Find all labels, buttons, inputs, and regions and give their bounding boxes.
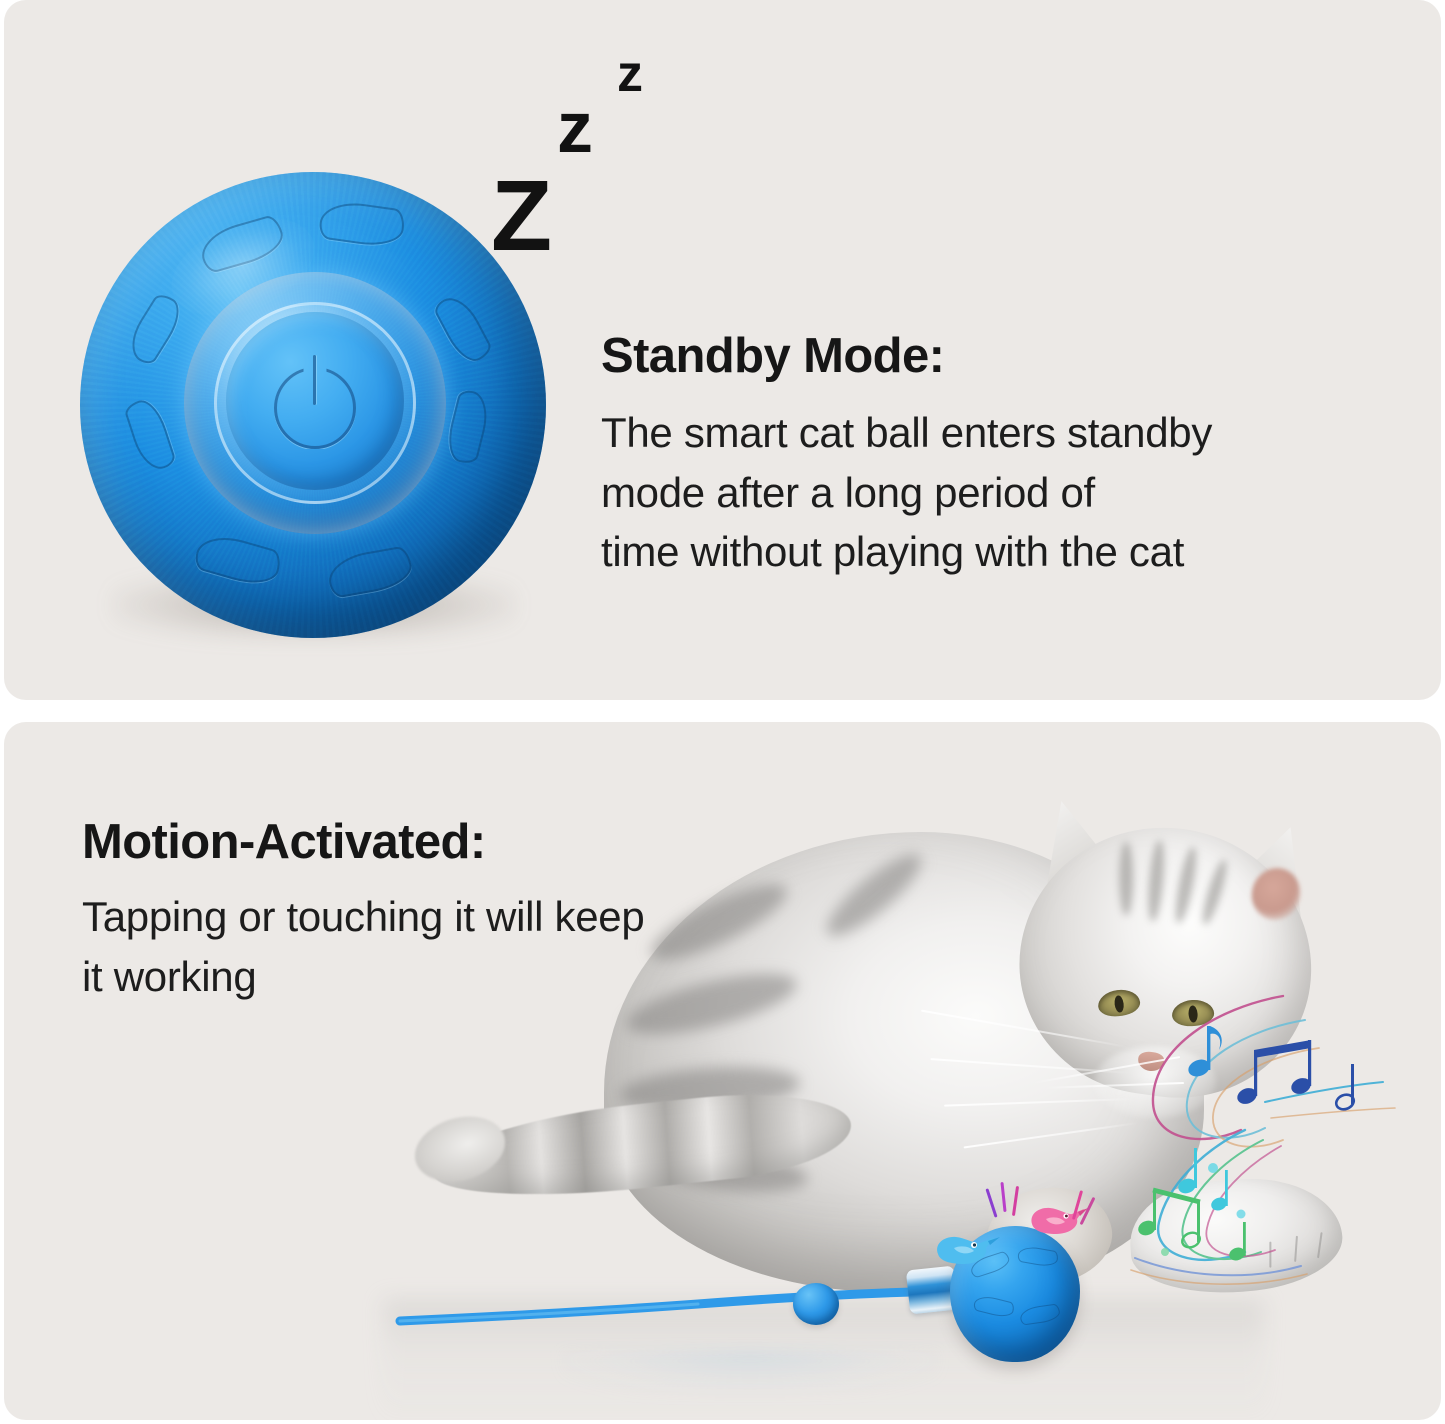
toy-wand-bead[interactable] xyxy=(793,1283,839,1325)
standby-mode-card: Z z z xyxy=(4,0,1441,700)
cat-toe-line xyxy=(1294,1236,1298,1262)
cat-forehead-stripe xyxy=(1172,845,1201,924)
power-icon-bar xyxy=(313,355,316,405)
cat-pupil xyxy=(1114,995,1125,1013)
ball-outer-shell xyxy=(80,172,546,638)
standby-body-line-3: time without playing with the cat xyxy=(601,522,1391,582)
standby-heading: Standby Mode: xyxy=(601,332,1391,381)
cat-forehead-stripe xyxy=(1119,842,1133,916)
standby-text-block: Standby Mode: The smart cat ball enters … xyxy=(601,332,1391,582)
cat-fur-stripe xyxy=(643,871,795,973)
standby-body-line-2: mode after a long period of xyxy=(601,463,1391,523)
cat-pupil xyxy=(1188,1005,1198,1023)
fish-emboss-icon xyxy=(1019,1303,1061,1325)
cat-toe-line xyxy=(1269,1242,1271,1268)
power-button[interactable] xyxy=(226,312,404,490)
bird-blue-icon xyxy=(930,1228,1002,1270)
cat-fur-stripe xyxy=(817,843,931,946)
sleep-z-small-icon: z xyxy=(617,48,643,100)
cat-toe-line xyxy=(1317,1232,1323,1258)
cat-forehead-stripe xyxy=(1146,839,1167,922)
cat-forehead-stripe xyxy=(1199,858,1231,927)
fish-emboss-icon xyxy=(1017,1245,1059,1269)
cat-fur-stripe xyxy=(621,961,801,1046)
product-feature-page: Z z z xyxy=(0,0,1445,1424)
smart-cat-ball-image xyxy=(74,168,554,648)
standby-body-line-1: The smart cat ball enters standby xyxy=(601,403,1391,463)
wand-floor-reflection xyxy=(560,1350,940,1396)
sleep-z-medium-icon: z xyxy=(557,92,593,164)
fish-emboss-icon xyxy=(973,1293,1016,1319)
power-icon xyxy=(263,349,367,453)
